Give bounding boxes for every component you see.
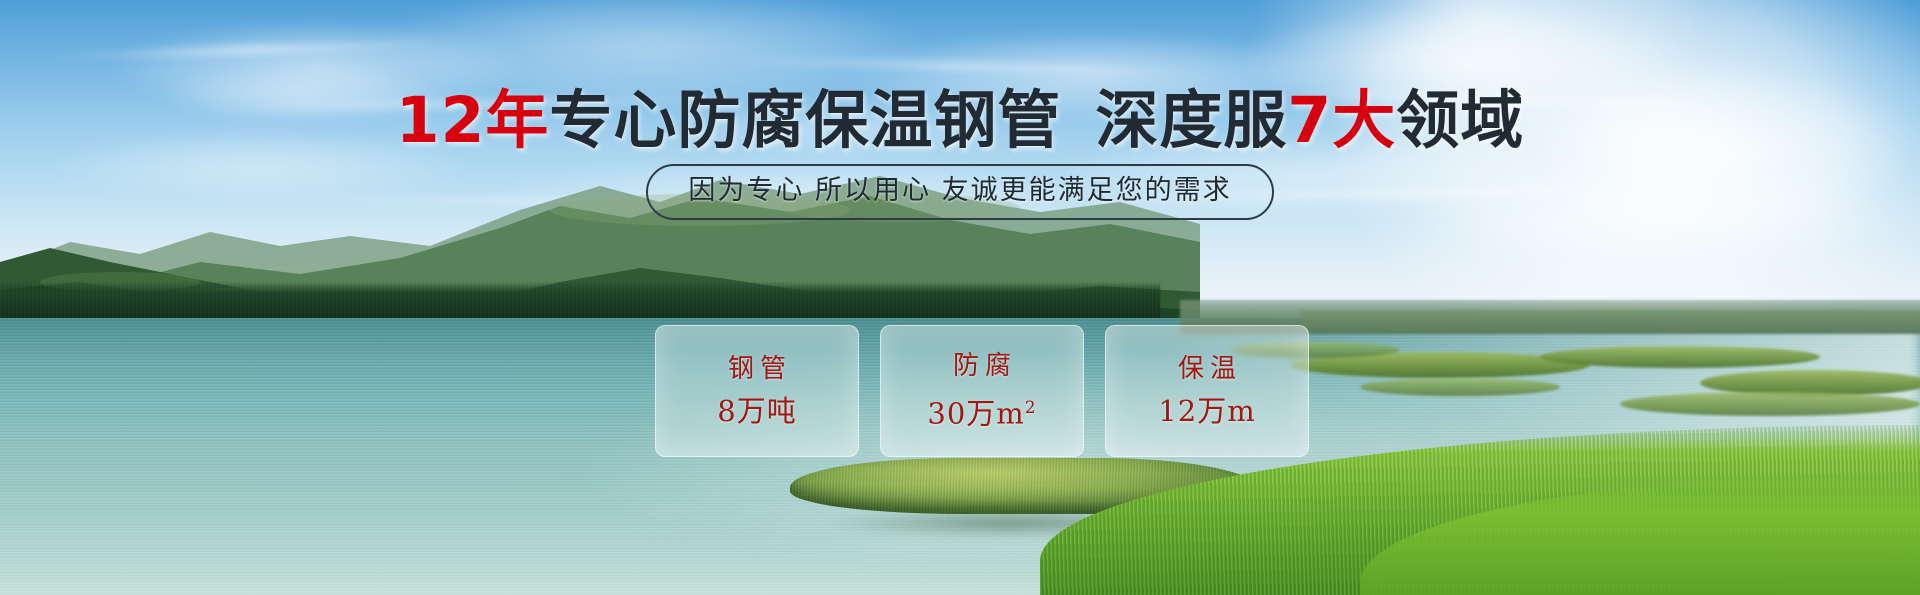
stat-card-value-text: 8万吨 xyxy=(717,394,796,428)
page-title: 12年专心防腐保温钢管深度服7大领域 xyxy=(0,84,1920,158)
cirrus-wisp xyxy=(700,55,1220,77)
headline-main-second-pre: 深度服 xyxy=(1095,84,1287,157)
subtitle-container: 因为专心 所以用心 友诚更能满足您的需求 xyxy=(0,164,1920,220)
stat-card-group: 钢管 8万吨 防腐 30万m2 保温 12万m xyxy=(655,325,1309,457)
stat-card-value: 30万m2 xyxy=(927,391,1036,431)
subtitle-pill: 因为专心 所以用心 友诚更能满足您的需求 xyxy=(646,164,1273,220)
headline-main-first: 专心防腐保温钢管 xyxy=(549,84,1061,157)
cirrus-wisp xyxy=(40,39,460,62)
stat-card-value-text: 12万m xyxy=(1158,394,1255,428)
marsh-patch xyxy=(1540,346,1820,368)
stat-card-steel-pipe[interactable]: 钢管 8万吨 xyxy=(655,325,859,457)
stat-card-insulation[interactable]: 保温 12万m xyxy=(1105,325,1309,457)
stat-card-value-text: 30万m xyxy=(927,397,1024,431)
headline-main-second-post: 领域 xyxy=(1396,84,1524,157)
stat-card-anticorrosion[interactable]: 防腐 30万m2 xyxy=(880,325,1084,457)
stat-card-value: 8万吨 xyxy=(717,394,796,428)
headline-accent-fields: 7大 xyxy=(1287,84,1396,157)
stat-card-title: 钢管 xyxy=(722,354,792,384)
stat-card-value-superscript: 2 xyxy=(1025,398,1037,418)
stat-card-title: 防腐 xyxy=(947,351,1017,381)
stat-card-value: 12万m xyxy=(1158,394,1255,428)
headline-accent-years: 12年 xyxy=(396,84,550,157)
far-shore-band-secondary xyxy=(1300,310,1920,332)
hero-banner: 12年专心防腐保温钢管深度服7大领域 因为专心 所以用心 友诚更能满足您的需求 … xyxy=(0,0,1920,595)
stat-card-title: 保温 xyxy=(1172,354,1242,384)
marsh-patch xyxy=(1620,392,1920,416)
marsh-patch xyxy=(1360,378,1560,396)
